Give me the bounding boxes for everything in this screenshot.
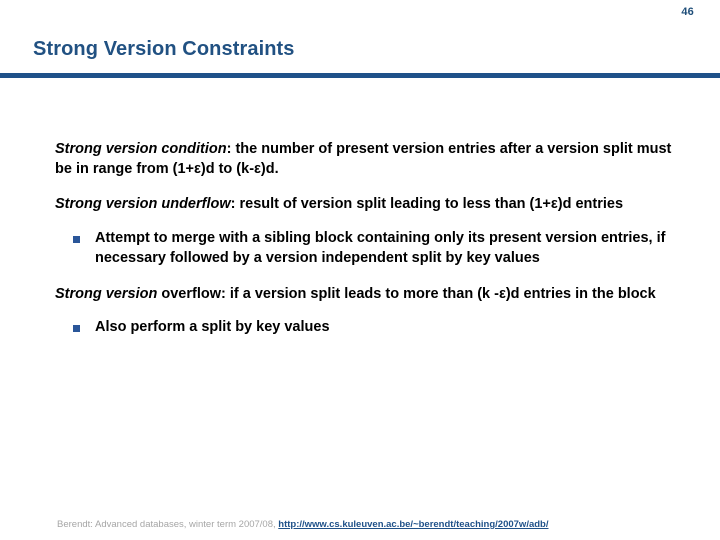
list-item: Attempt to merge with a sibling block co… bbox=[55, 229, 675, 268]
paragraph-strong-version-overflow: Strong version overflow: if a version sp… bbox=[55, 285, 675, 305]
page-number: 46 bbox=[681, 6, 694, 18]
footer-course-link[interactable]: http://www.cs.kuleuven.ac.be/~berendt/te… bbox=[278, 519, 548, 530]
footer: Berendt: Advanced databases, winter term… bbox=[57, 519, 549, 530]
paragraph-2-text: : result of version split leading to les… bbox=[231, 196, 623, 212]
bullet-2-text: Also perform a split by key values bbox=[95, 318, 675, 338]
square-bullet-icon bbox=[73, 236, 80, 243]
paragraph-3-text: overflow: if a version split leads to mo… bbox=[157, 286, 655, 302]
page-title: Strong Version Constraints bbox=[33, 38, 295, 61]
paragraph-1-emphasis: Strong version condition bbox=[55, 141, 227, 157]
slide-body: Strong version condition: the number of … bbox=[55, 140, 675, 354]
footer-credit: Berendt: Advanced databases, winter term… bbox=[57, 519, 278, 530]
square-bullet-icon bbox=[73, 325, 80, 332]
bullet-1-text: Attempt to merge with a sibling block co… bbox=[95, 229, 675, 268]
paragraph-strong-version-underflow: Strong version underflow: result of vers… bbox=[55, 195, 675, 215]
paragraph-3-emphasis: Strong version bbox=[55, 286, 157, 302]
paragraph-strong-version-condition: Strong version condition: the number of … bbox=[55, 140, 675, 179]
list-item: Also perform a split by key values bbox=[55, 318, 675, 338]
title-divider bbox=[0, 73, 720, 78]
slide: 46 Strong Version Constraints Strong ver… bbox=[0, 0, 720, 540]
paragraph-2-emphasis: Strong version underflow bbox=[55, 196, 231, 212]
